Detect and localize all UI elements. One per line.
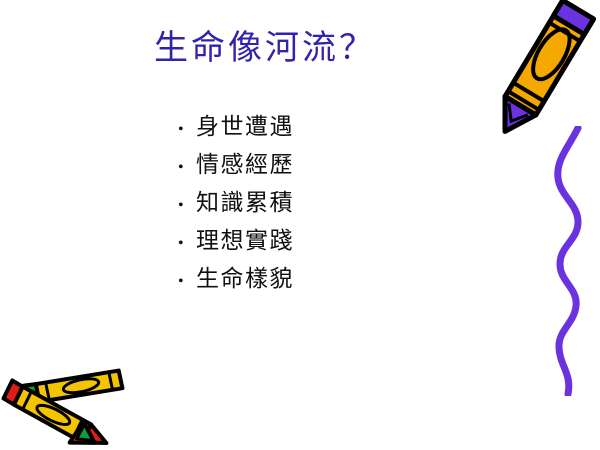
bullet-point-icon: •	[178, 187, 196, 225]
list-item: • 理想實踐	[178, 222, 294, 260]
purple-crayon-icon	[468, 0, 600, 144]
bullet-point-icon: •	[178, 225, 196, 263]
list-item-label: 理想實踐	[196, 222, 294, 260]
bullet-list: • 身世遭遇 • 情感經歷 • 知識累積 • 理想實踐 • 生命樣貌	[178, 108, 294, 298]
list-item: • 知識累積	[178, 184, 294, 222]
crossed-crayons-icon	[0, 352, 146, 450]
list-item: • 情感經歷	[178, 146, 294, 184]
list-item-label: 生命樣貌	[196, 260, 294, 298]
list-item: • 生命樣貌	[178, 260, 294, 298]
bullet-point-icon: •	[178, 263, 196, 301]
list-item-label: 知識累積	[196, 184, 294, 222]
list-item-label: 情感經歷	[196, 146, 294, 184]
presentation-slide: 生命像河流？ • 身世遭遇 • 情感經歷 • 知識累積 • 理想實踐 • 生命樣…	[0, 0, 600, 450]
purple-wavy-line-icon	[538, 126, 600, 396]
page-title-text: 生命像河流？	[154, 26, 376, 72]
list-item-label: 身世遭遇	[196, 108, 294, 146]
bullet-point-icon: •	[178, 149, 196, 187]
page-title: 生命像河流？	[0, 26, 600, 72]
list-item: • 身世遭遇	[178, 108, 294, 146]
bullet-point-icon: •	[178, 111, 196, 149]
